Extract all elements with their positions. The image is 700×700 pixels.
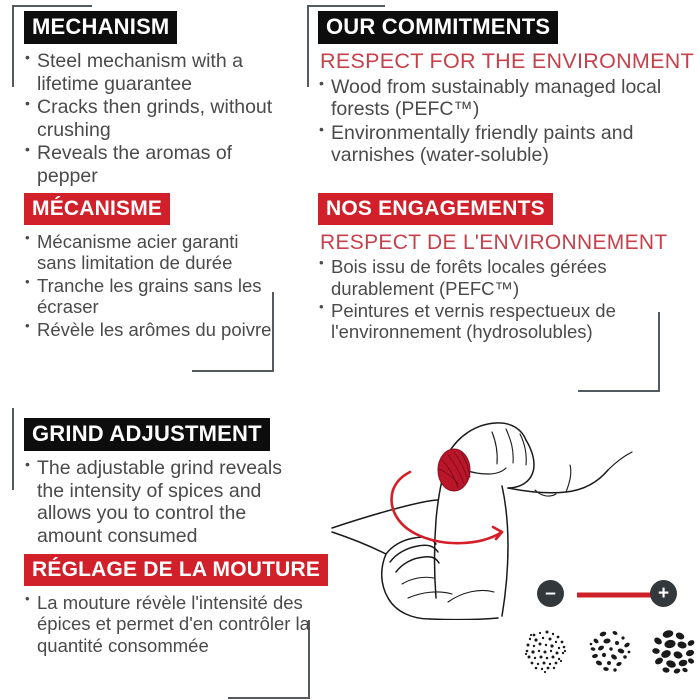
- list-item: Révèle les arômes du poivre: [24, 319, 274, 340]
- section-mechanism-en: MECHANISM Steel mechanism with a lifetim…: [24, 11, 284, 189]
- bullet-list-mechanism-fr: Mécanisme acier garanti sans limitation …: [24, 231, 274, 340]
- finger-index-top: [448, 423, 526, 454]
- increase-grind-button[interactable]: +: [650, 580, 677, 607]
- section-commitments-en: OUR COMMITMENTS RESPECT FOR THE ENVIRONM…: [318, 11, 678, 168]
- list-item: Mécanisme acier garanti sans limitation …: [24, 231, 274, 274]
- heading-grind-en: GRIND ADJUSTMENT: [24, 418, 270, 451]
- section-commitments-fr: NOS ENGAGEMENTS RESPECT DE L'ENVIRONNEME…: [318, 193, 663, 344]
- heading-grind-fr: RÉGLAGE DE LA MOUTURE: [24, 554, 328, 586]
- bracket-grind-left-vertical: [12, 408, 14, 490]
- bracket-left-bottom-horizontal: [192, 370, 274, 372]
- crease-g: [408, 592, 452, 598]
- fine-grind-icon: [520, 625, 572, 677]
- grinder-right-edge: [502, 486, 508, 616]
- thumb-bottom: [332, 532, 386, 554]
- list-item: Bois issu de forêts locales gérées durab…: [318, 256, 663, 299]
- list-item: Wood from sustainably managed local fore…: [318, 76, 678, 121]
- subheading-commitments-en: RESPECT FOR THE ENVIRONMENT: [320, 50, 678, 74]
- bullet-list-mechanism-en: Steel mechanism with a lifetime guarante…: [24, 50, 284, 188]
- coarse-grind-icon: [648, 625, 700, 677]
- bracket-right-bottom-horizontal: [578, 390, 660, 392]
- list-item: Peintures et vernis respectueux de l'env…: [318, 300, 663, 343]
- minus-icon: –: [537, 580, 564, 607]
- grind-scale: – +: [510, 580, 700, 680]
- bracket-grind-bottom-horizontal: [228, 697, 310, 699]
- bracket-right-top-vertical: [307, 5, 309, 87]
- list-item: Reveals the aromas of pepper: [24, 142, 284, 187]
- crease-a: [492, 432, 497, 464]
- list-item: The adjustable grind reveals the intensi…: [24, 457, 314, 547]
- list-item: Environmentally friendly paints and varn…: [318, 122, 678, 167]
- heading-mechanism-en: MECHANISM: [24, 11, 177, 44]
- rotation-arrow-tail: [393, 472, 410, 490]
- palm-lower-edge: [382, 554, 430, 619]
- bracket-right-top-horizontal: [307, 5, 385, 7]
- thumb-top: [332, 500, 438, 528]
- heading-mechanism-fr: MÉCANISME: [24, 193, 170, 225]
- list-item: La mouture révèle l'intensité des épices…: [24, 592, 314, 656]
- bracket-topleft-vertical: [12, 5, 14, 87]
- bullet-list-grind-en: The adjustable grind reveals the intensi…: [24, 457, 314, 547]
- grinder-knob: [438, 449, 470, 491]
- crease-h: [448, 590, 494, 602]
- section-grind-fr: RÉGLAGE DE LA MOUTURE La mouture révèle …: [24, 554, 314, 657]
- crease-b: [506, 429, 513, 463]
- heading-commitments-fr: NOS ENGAGEMENTS: [318, 193, 553, 225]
- rotation-arrow-arc: [392, 490, 502, 543]
- palm-bottom: [430, 618, 498, 620]
- bracket-topleft-horizontal: [12, 5, 92, 7]
- section-grind-en: GRIND ADJUSTMENT The adjustable grind re…: [24, 418, 314, 548]
- heading-commitments-en: OUR COMMITMENTS: [318, 11, 558, 44]
- crease-d: [566, 465, 571, 492]
- instruction-sheet: MECHANISM Steel mechanism with a lifetim…: [0, 0, 700, 700]
- bullet-list-commitments-fr: Bois issu de forêts locales gérées durab…: [318, 256, 663, 343]
- section-mechanism-fr: MÉCANISME Mécanisme acier garanti sans l…: [24, 193, 274, 341]
- plus-icon: +: [650, 580, 677, 607]
- finger-middle: [508, 470, 608, 493]
- decrease-grind-button[interactable]: –: [537, 580, 564, 607]
- bullet-list-grind-fr: La mouture révèle l'intensité des épices…: [24, 592, 314, 656]
- subheading-commitments-fr: RESPECT DE L'ENVIRONNEMENT: [320, 231, 663, 254]
- list-item: Tranche les grains sans les écraser: [24, 275, 274, 318]
- crease-f: [402, 577, 434, 584]
- medium-grind-icon: [585, 625, 637, 677]
- bullet-list-commitments-en: Wood from sustainably managed local fore…: [318, 76, 678, 167]
- finger-fold-3: [396, 557, 439, 572]
- list-item: Cracks then grinds, without crushing: [24, 96, 284, 141]
- finger-middle-tip: [608, 452, 632, 470]
- list-item: Steel mechanism with a lifetime guarante…: [24, 50, 284, 95]
